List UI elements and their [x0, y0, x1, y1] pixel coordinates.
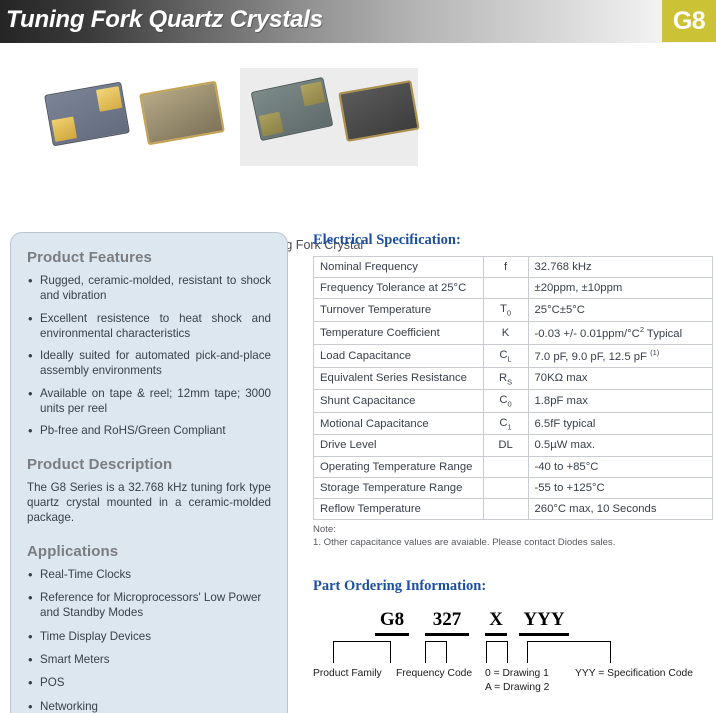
table-row: Turnover TemperatureT025°C±5°C: [314, 299, 713, 322]
spec-value: 6.5fF typical: [528, 412, 712, 435]
list-item: Reference for Microprocessors' Low Power…: [27, 590, 271, 621]
list-item: Available on tape & reel; 12mm tape; 300…: [27, 386, 271, 417]
spec-parameter: Nominal Frequency: [314, 257, 484, 278]
list-item: Real-Time Clocks: [27, 567, 271, 582]
spec-parameter: Temperature Coefficient: [314, 321, 484, 344]
table-row: Reflow Temperature260°C max, 10 Seconds: [314, 498, 713, 519]
applications-heading: Applications: [27, 543, 271, 560]
applications-list: Real-Time Clocks Reference for Microproc…: [27, 567, 271, 713]
part-ordering-section: Part Ordering Information: G8 327 X YYY …: [313, 578, 716, 713]
page-title: Tuning Fork Quartz Crystals: [6, 6, 323, 34]
note-label: Note:: [313, 524, 716, 537]
list-item: Pb-free and RoHS/Green Compliant: [27, 423, 271, 438]
part-ordering-heading: Part Ordering Information:: [313, 578, 716, 595]
order-code-spec: YYY: [519, 609, 569, 636]
list-item: Smart Meters: [27, 652, 271, 667]
spec-symbol: DL: [483, 435, 528, 456]
table-row: Drive LevelDL0.5µW max.: [314, 435, 713, 456]
leader-line-frequency: [425, 641, 447, 663]
spec-symbol: T0: [483, 299, 528, 322]
table-row: Shunt CapacitanceC01.8pF max: [314, 390, 713, 413]
table-row: Equivalent Series ResistanceRS70KΩ max: [314, 367, 713, 390]
spec-value: -55 to +125°C: [528, 477, 712, 498]
spec-symbol: C1: [483, 412, 528, 435]
crystal-pad-left: [259, 112, 284, 137]
spec-symbol: [483, 456, 528, 477]
spec-parameter: Equivalent Series Resistance: [314, 367, 484, 390]
spec-symbol: [483, 477, 528, 498]
spec-value: -40 to +85°C: [528, 456, 712, 477]
crystal-pad-right: [96, 86, 122, 112]
list-item: POS: [27, 675, 271, 690]
list-item: Excellent resistence to heat shock and e…: [27, 311, 271, 342]
series-badge: G8: [662, 0, 716, 42]
crystal-body: [139, 81, 225, 146]
spec-symbol: K: [483, 321, 528, 344]
spec-parameter: Operating Temperature Range: [314, 456, 484, 477]
leader-line-product-family: [333, 641, 391, 663]
order-label-drawing-1: 0 = Drawing 1: [485, 667, 549, 681]
order-label-frequency: Frequency Code: [396, 667, 472, 681]
order-label-product-family: Product Family: [313, 667, 382, 681]
product-image-crystal-2: [139, 81, 225, 146]
product-image-crystal-1: [44, 82, 130, 147]
table-row: Nominal Frequencyf32.768 kHz: [314, 257, 713, 278]
spec-symbol: [483, 498, 528, 519]
product-features-list: Rugged, ceramic-molded, resistant to sho…: [27, 273, 271, 439]
product-info-panel: Product Features Rugged, ceramic-molded,…: [10, 232, 288, 713]
leader-line-drawing: [486, 641, 508, 663]
spec-value: 70KΩ max: [528, 367, 712, 390]
spec-value: ±20ppm, ±10ppm: [528, 278, 712, 299]
order-label-spec: YYY = Specification Code: [575, 667, 693, 681]
spec-parameter: Frequency Tolerance at 25°C: [314, 278, 484, 299]
spec-parameter: Motional Capacitance: [314, 412, 484, 435]
spec-parameter: Storage Temperature Range: [314, 477, 484, 498]
list-item: Ideally suited for automated pick-and-pl…: [27, 348, 271, 379]
spec-symbol: C0: [483, 390, 528, 413]
right-column: Electrical Specification: Nominal Freque…: [313, 232, 716, 713]
list-item: Time Display Devices: [27, 629, 271, 644]
spec-value: 32.768 kHz: [528, 257, 712, 278]
spec-parameter: Load Capacitance: [314, 344, 484, 367]
electrical-specification-table: Nominal Frequencyf32.768 kHzFrequency To…: [313, 256, 713, 520]
order-code-drawing: X: [485, 609, 507, 636]
table-row: Motional CapacitanceC16.5fF typical: [314, 412, 713, 435]
product-description-text: The G8 Series is a 32.768 kHz tuning for…: [27, 480, 271, 526]
spec-symbol: CL: [483, 344, 528, 367]
spec-value: 7.0 pF, 9.0 pF, 12.5 pF (1): [528, 344, 712, 367]
spec-symbol: [483, 278, 528, 299]
table-row: Temperature CoefficientK-0.03 +/- 0.01pp…: [314, 321, 713, 344]
table-row: Storage Temperature Range-55 to +125°C: [314, 477, 713, 498]
spec-symbol: RS: [483, 367, 528, 390]
order-code-product-family: G8: [375, 609, 409, 636]
product-features-heading: Product Features: [27, 249, 271, 266]
table-row: Load CapacitanceCL7.0 pF, 9.0 pF, 12.5 p…: [314, 344, 713, 367]
spec-value: 1.8pF max: [528, 390, 712, 413]
series-badge-label: G8: [673, 7, 705, 36]
order-code-frequency: 327: [425, 609, 469, 636]
datasheet-page: Tuning Fork Quartz Crystals G8 3.2 x 1.5…: [0, 0, 716, 713]
crystal-pad-left: [52, 116, 77, 141]
spec-value: -0.03 +/- 0.01ppm/°C2 Typical: [528, 321, 712, 344]
leader-line-spec: [527, 641, 611, 663]
spec-value: 0.5µW max.: [528, 435, 712, 456]
crystal-pad-right: [300, 81, 325, 106]
electrical-specification-heading: Electrical Specification:: [313, 232, 716, 249]
note-text: 1. Other capacitance values are avaiable…: [313, 537, 716, 550]
product-description-heading: Product Description: [27, 456, 271, 473]
spec-parameter: Drive Level: [314, 435, 484, 456]
list-item: Rugged, ceramic-molded, resistant to sho…: [27, 273, 271, 304]
list-item: Networking: [27, 699, 271, 713]
spec-value: 25°C±5°C: [528, 299, 712, 322]
part-ordering-diagram: G8 327 X YYY Product Family Frequency Co…: [313, 609, 716, 713]
table-row: Operating Temperature Range-40 to +85°C: [314, 456, 713, 477]
spec-value: 260°C max, 10 Seconds: [528, 498, 712, 519]
spec-parameter: Shunt Capacitance: [314, 390, 484, 413]
order-label-drawing-2: A = Drawing 2: [485, 681, 549, 695]
spec-parameter: Reflow Temperature: [314, 498, 484, 519]
table-note: Note: 1. Other capacitance values are av…: [313, 524, 716, 550]
table-row: Frequency Tolerance at 25°C±20ppm, ±10pp…: [314, 278, 713, 299]
page-header: Tuning Fork Quartz Crystals G8: [0, 0, 716, 43]
product-photo-area: 3.2 x 1.5mm SMD Ceramic Molded Tuning Fo…: [0, 60, 430, 175]
spec-symbol: f: [483, 257, 528, 278]
spec-parameter: Turnover Temperature: [314, 299, 484, 322]
